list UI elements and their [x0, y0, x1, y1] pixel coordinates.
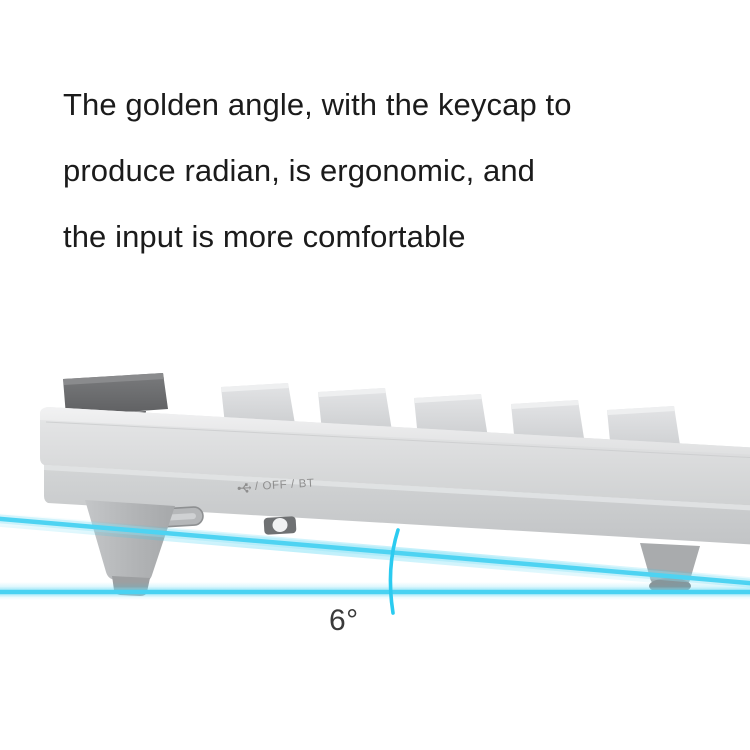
usb-icon — [237, 482, 253, 494]
headline-line-3: the input is more comfortable — [63, 204, 703, 270]
front-foot — [85, 500, 175, 596]
headline-block: The golden angle, with the keycap to pro… — [63, 72, 703, 270]
angle-arc — [390, 530, 398, 613]
mode-toggle-switch[interactable] — [264, 516, 297, 535]
headline-line-2: produce radian, is ergonomic, and — [63, 138, 703, 204]
headline-line-1: The golden angle, with the keycap to — [63, 72, 703, 138]
product-illustration — [0, 330, 750, 670]
angle-value-label: 6° — [329, 604, 359, 638]
